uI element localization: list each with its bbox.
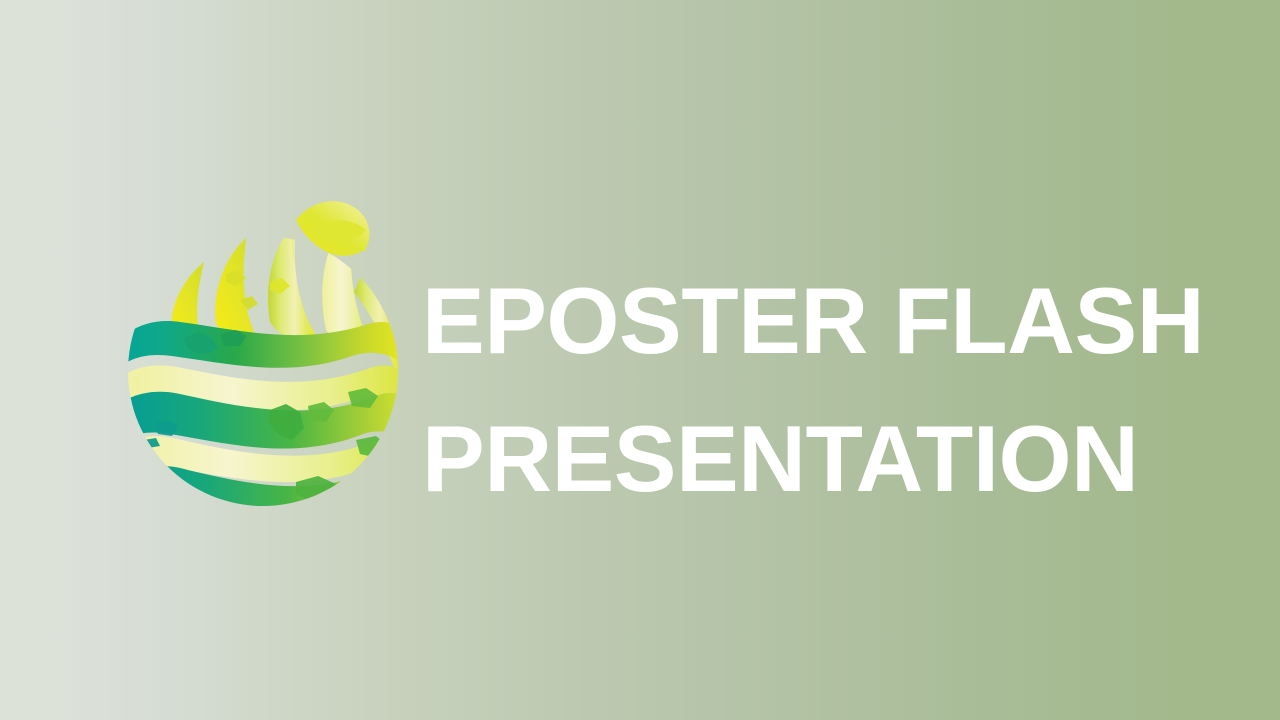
ribbon-band-teal-12 bbox=[164, 527, 356, 566]
globe-ribbon-logo bbox=[120, 196, 406, 516]
ribbon-band-teal-6 bbox=[114, 321, 404, 372]
page-title: EPOSTER FLASH PRESENTATION bbox=[422, 252, 1212, 528]
ribbon-band-cream-11 bbox=[140, 502, 360, 545]
title-slide: EPOSTER FLASH PRESENTATION bbox=[0, 0, 1280, 720]
title-line-1: EPOSTER FLASH bbox=[422, 252, 1212, 390]
logo-globe-body bbox=[108, 201, 412, 566]
ribbon-band-yellow-2 bbox=[215, 238, 254, 338]
title-line-2: PRESENTATION bbox=[422, 390, 1212, 528]
